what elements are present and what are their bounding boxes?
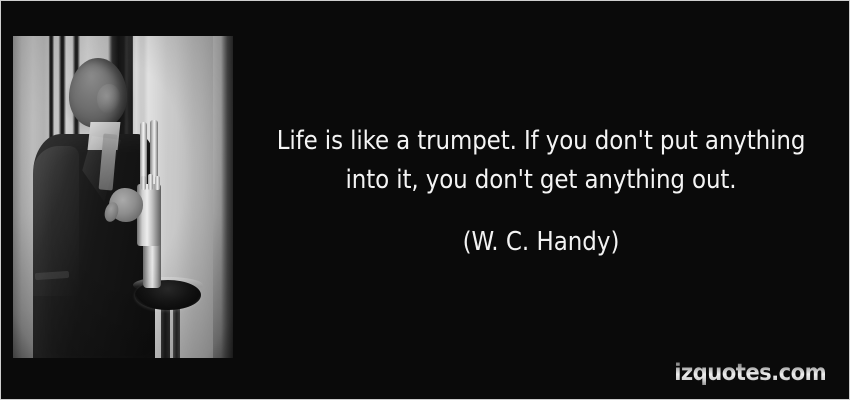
quote-attribution: (W. C. Handy) [252, 226, 830, 258]
quote-text: Life is like a trumpet. If you don't put… [252, 122, 830, 200]
site-watermark: izquotes.com [674, 360, 826, 386]
quote-card: Life is like a trumpet. If you don't put… [0, 0, 850, 400]
photo-vignette [13, 36, 233, 358]
quote-block: Life is like a trumpet. If you don't put… [252, 122, 830, 200]
author-photo [13, 36, 233, 358]
